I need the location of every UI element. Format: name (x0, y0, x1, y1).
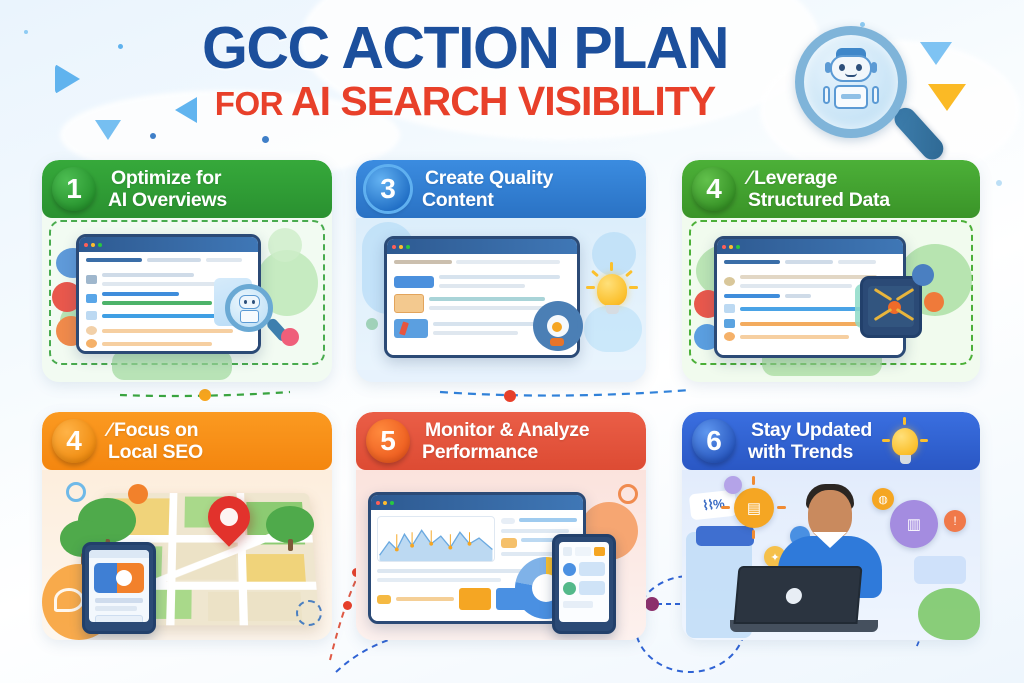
card-1-number: 1 (66, 173, 82, 205)
card-4[interactable]: 4 ⁄Focus on Local SEO (42, 412, 332, 640)
card-5-phone (552, 534, 616, 634)
card-3-number: 4 (706, 173, 722, 205)
card-4-number-badge: 4 (52, 419, 96, 463)
card-3-header: 4 ⁄Leverage Structured Data (682, 160, 980, 218)
card-4-tree-right (266, 506, 314, 554)
card-6-number: 6 (706, 425, 722, 457)
card-4-illustration (42, 470, 332, 640)
magnifier-robot-icon (795, 26, 923, 154)
card-2-lightbulb-icon (597, 274, 627, 314)
card-1-header: 1 Optimize for AI Overviews (42, 160, 332, 218)
card-6-icon-globe: ◍ (872, 488, 894, 510)
card-1-illustration (42, 218, 332, 370)
card-3-illustration (682, 218, 980, 370)
card-1-number-badge: 1 (52, 167, 96, 211)
card-6-icon-lilac (724, 476, 742, 494)
card-1-magnifier-robot-icon (225, 284, 281, 340)
subtitle-for: FOR (215, 85, 283, 122)
card-6-illustration: ⌇⌇% ▤ ▥ ◍ ✦ ! (682, 470, 980, 640)
subtitle-line: FORAI SEARCH VISIBILITY (140, 81, 790, 122)
card-3-glitch-glyph: ⁄ (748, 167, 751, 189)
card-6-title-text: Stay Updated with Trends (748, 419, 872, 463)
card-5-title-text: Monitor & Analyze Performance (422, 419, 589, 463)
card-5-browser-bar (371, 495, 583, 510)
card-3-title-text: Leverage Structured Data (748, 167, 890, 211)
confetti-dot-6 (996, 180, 1002, 186)
card-6-title: Stay Updated with Trends (748, 419, 966, 463)
card-3-device-node-graph (860, 276, 922, 338)
card-2-browser-bar (387, 239, 577, 254)
connector-dot-card4-card5-b (343, 601, 352, 610)
card-4-number: 4 (66, 425, 82, 457)
card-2[interactable]: 3 Create Quality Content (356, 160, 646, 382)
robot-icon (823, 48, 879, 112)
card-5-title: Monitor & Analyze Performance (422, 419, 632, 463)
robot-arm-right (872, 86, 879, 104)
page-title: GCC ACTION PLAN (140, 20, 790, 77)
card-5-area-chart (377, 516, 495, 562)
card-4-title: ⁄Focus on Local SEO (108, 419, 318, 463)
robot-chest-screen (841, 94, 861, 99)
page-subtitle: AI SEARCH VISIBILITY (291, 78, 715, 124)
card-6[interactable]: 6 Stay Updated with Trends ⌇⌇% ▤ ▥ (682, 412, 980, 640)
card-1-title-text: Optimize for AI Overviews (108, 167, 227, 211)
card-6-lightbulb-icon (892, 428, 918, 464)
connector-dot-card2-card3 (504, 390, 516, 402)
card-5-phone-screen (559, 542, 609, 622)
card-2-title-text: Create Quality Content (422, 167, 553, 211)
card-5-number: 5 (380, 425, 396, 457)
card-3-number-badge: 4 (692, 167, 736, 211)
card-2-title: Create Quality Content (422, 167, 632, 211)
card-4-phone (82, 542, 156, 634)
card-3[interactable]: 4 ⁄Leverage Structured Data (682, 160, 980, 382)
card-3-title: ⁄Leverage Structured Data (748, 167, 966, 211)
card-5-header: 5 Monitor & Analyze Performance (356, 412, 646, 470)
card-6-laptop-screen (733, 566, 862, 624)
card-5[interactable]: 5 Monitor & Analyze Performance (356, 412, 646, 640)
title-block: GCC ACTION PLAN FORAI SEARCH VISIBILITY (140, 20, 790, 122)
card-6-number-badge: 6 (692, 419, 736, 463)
robot-eye-left (839, 64, 845, 71)
card-1-title: Optimize for AI Overviews (108, 167, 318, 211)
card-5-number-badge: 5 (366, 419, 410, 463)
card-2-number: 3 (380, 173, 396, 205)
robot-arm-left (823, 86, 830, 104)
card-6-icon-purple-chart: ▥ (890, 500, 938, 548)
card-4-glitch-glyph: ⁄ (108, 419, 111, 441)
card-2-illustration (356, 218, 646, 370)
card-6-header: 6 Stay Updated with Trends (682, 412, 980, 470)
card-4-title-text: Focus on Local SEO (108, 419, 203, 463)
card-2-header: 3 Create Quality Content (356, 160, 646, 218)
infographic-canvas: GCC ACTION PLAN FORAI SEARCH VISIBILITY (0, 0, 1024, 683)
robot-eye-right (856, 64, 862, 71)
card-1[interactable]: 1 Optimize for AI Overviews (42, 160, 332, 382)
card-3-browser-bar (717, 239, 903, 254)
connector-dot-card1-card2 (199, 389, 211, 401)
card-5-illustration (356, 470, 646, 640)
robot-head (830, 55, 872, 82)
card-2-number-badge: 3 (366, 167, 410, 211)
card-1-browser-bar (79, 237, 258, 252)
card-6-icon-alert: ! (944, 510, 966, 532)
infographic-header: GCC ACTION PLAN FORAI SEARCH VISIBILITY (0, 8, 1024, 153)
connector-dot-card5-card6 (645, 597, 659, 611)
card-4-header: 4 ⁄Focus on Local SEO (42, 412, 332, 470)
card-4-phone-screen (89, 550, 149, 622)
